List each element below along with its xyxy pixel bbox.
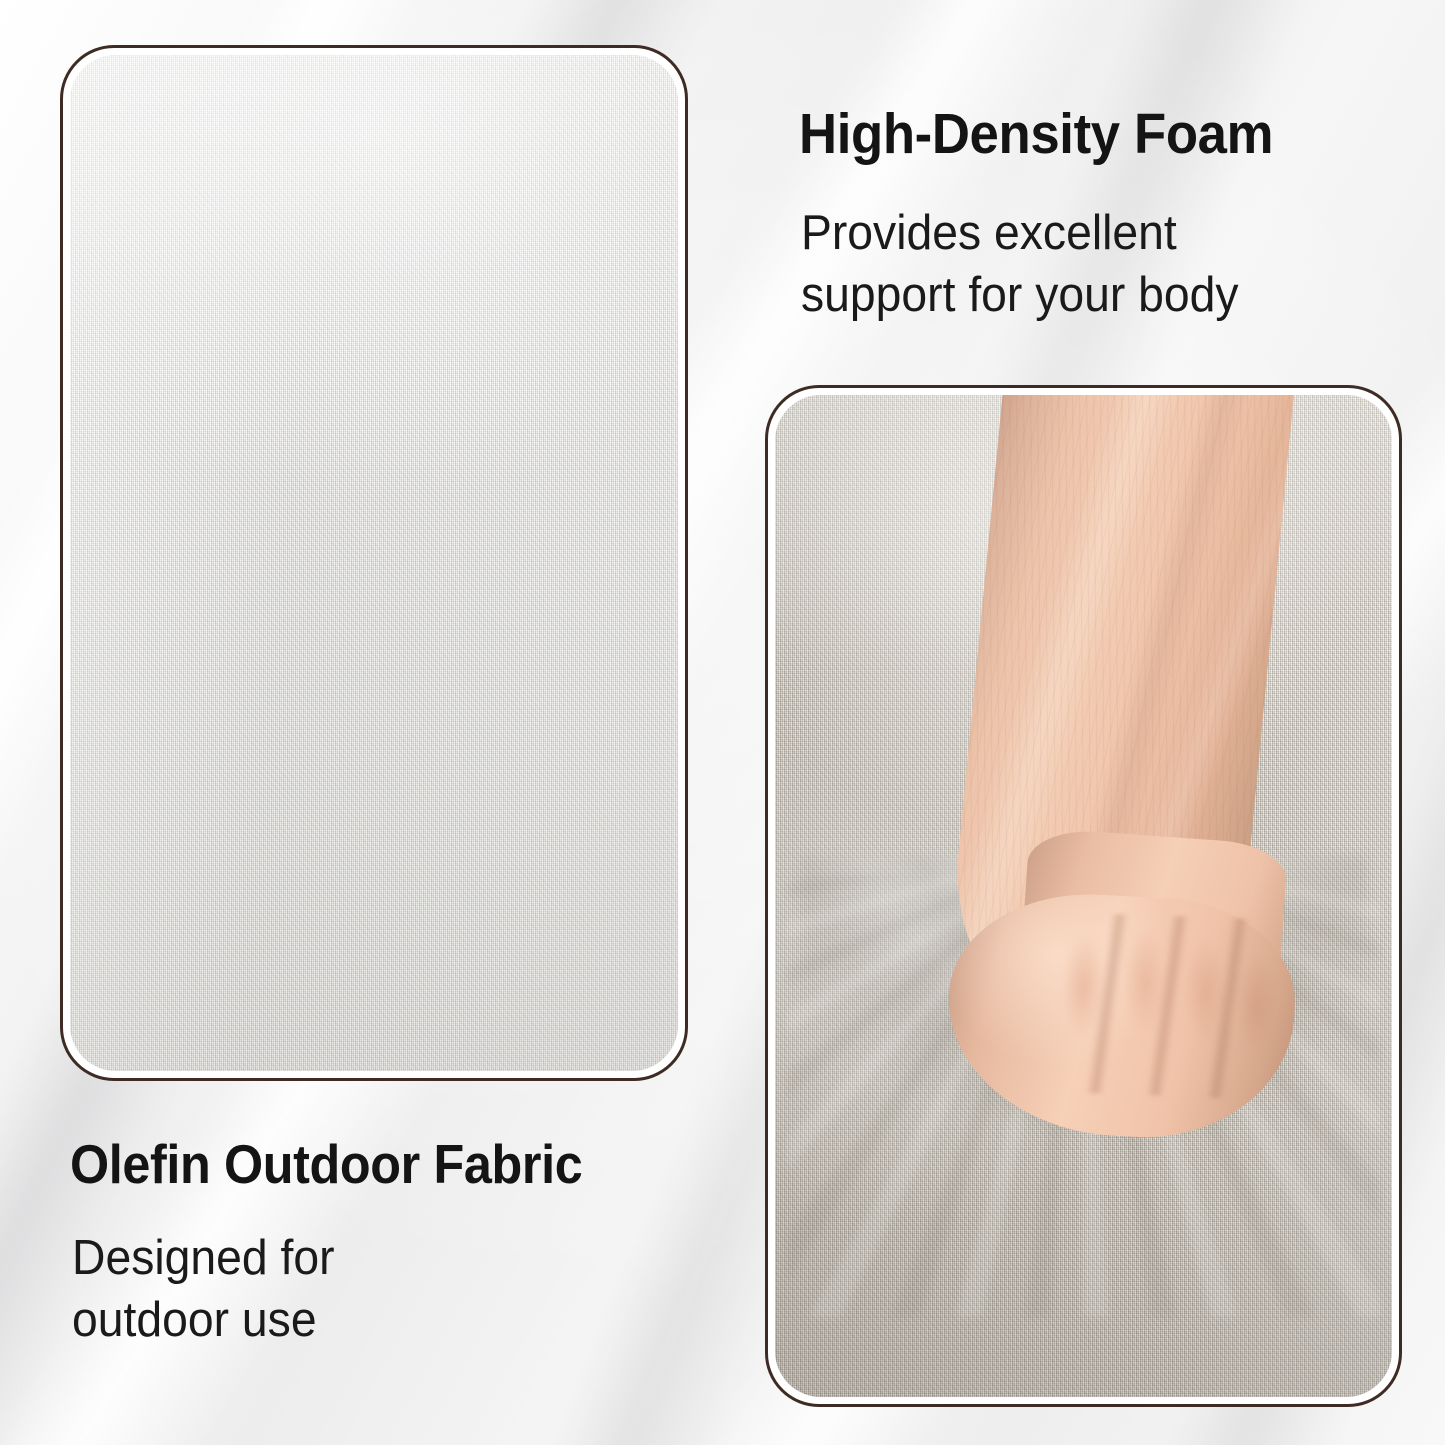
foam-press-photo bbox=[775, 395, 1392, 1397]
fabric-subline-line-1: Designed for bbox=[72, 1228, 563, 1290]
olefin-fabric-photo bbox=[70, 55, 678, 1071]
fabric-subline-line-2: outdoor use bbox=[72, 1290, 563, 1352]
fabric-subline: Designed for outdoor use bbox=[72, 1228, 563, 1351]
high-density-foam-image-card bbox=[765, 385, 1402, 1407]
foam-subline: Provides excellent support for your body bbox=[801, 203, 1387, 326]
foam-subline-line-1: Provides excellent bbox=[801, 203, 1387, 265]
infographic-canvas: High-Density Foam Provides excellent sup… bbox=[0, 0, 1445, 1445]
fabric-lighting-overlay bbox=[70, 55, 678, 1071]
fabric-headline: Olefin Outdoor Fabric bbox=[70, 1136, 582, 1194]
olefin-fabric-image-card bbox=[60, 45, 688, 1081]
finger-separation-lines bbox=[1056, 912, 1284, 1100]
foam-subline-line-2: support for your body bbox=[801, 265, 1387, 327]
foam-headline: High-Density Foam bbox=[799, 105, 1273, 165]
